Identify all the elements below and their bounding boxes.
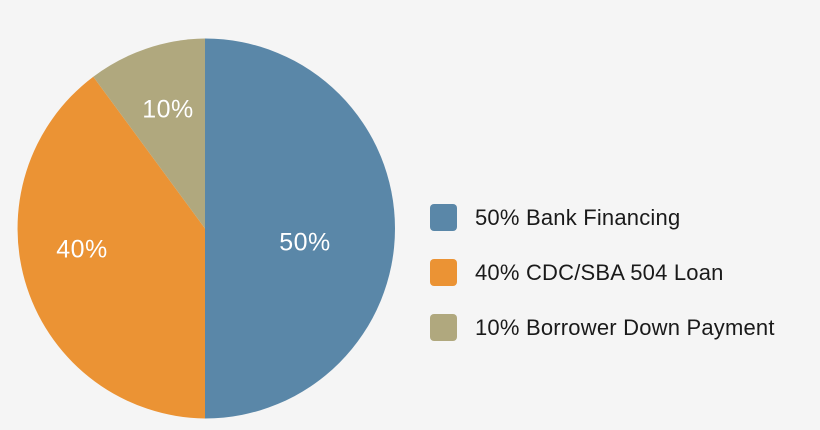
legend-label-bank-financing: 50% Bank Financing <box>475 207 680 229</box>
pie-slice-label-bank-financing: 50% <box>279 229 331 258</box>
pie-svg <box>0 0 420 430</box>
legend-item-bank-financing[interactable]: 50% Bank Financing <box>430 190 820 245</box>
chart-legend: 50% Bank Financing 40% CDC/SBA 504 Loan … <box>430 190 820 355</box>
legend-swatch-borrower-down-payment <box>430 314 457 341</box>
legend-label-cdc-sba-504-loan: 40% CDC/SBA 504 Loan <box>475 262 724 284</box>
pie-slice-label-borrower-down-payment: 10% <box>142 96 194 125</box>
legend-swatch-cdc-sba-504-loan <box>430 259 457 286</box>
legend-item-borrower-down-payment[interactable]: 10% Borrower Down Payment <box>430 300 820 355</box>
legend-item-cdc-sba-504-loan[interactable]: 40% CDC/SBA 504 Loan <box>430 245 820 300</box>
pie-chart-figure: 50% 40% 10% 50% Bank Financing 40% CDC/S… <box>0 0 820 430</box>
legend-label-borrower-down-payment: 10% Borrower Down Payment <box>475 317 775 339</box>
legend-swatch-bank-financing <box>430 204 457 231</box>
pie-plot-area: 50% 40% 10% <box>0 0 420 430</box>
pie-slice-label-cdc-sba-504-loan: 40% <box>56 236 108 265</box>
